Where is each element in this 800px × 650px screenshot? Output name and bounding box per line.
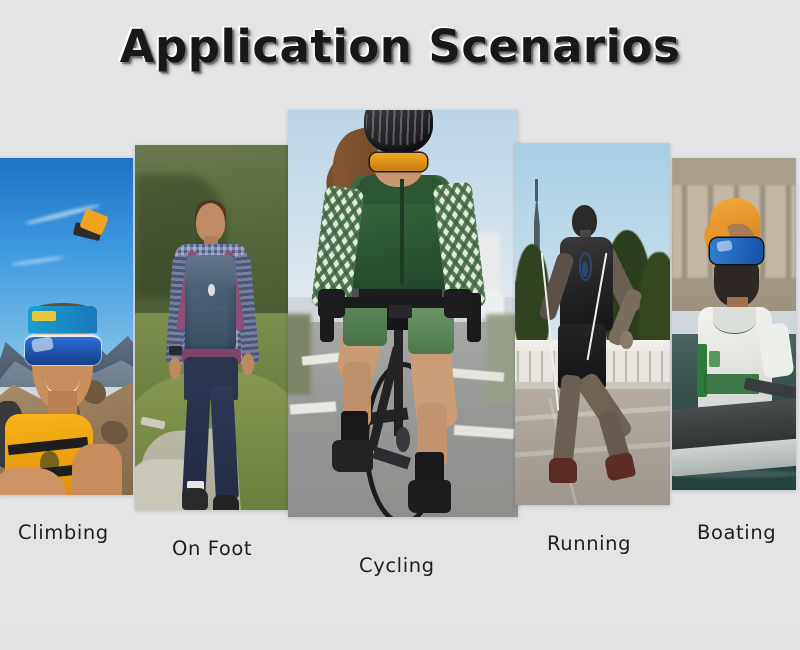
boating-scene-illustration <box>672 158 796 490</box>
right-hiking-shoe <box>213 495 239 510</box>
card-bottom-strip <box>0 631 800 650</box>
headband-stripe <box>32 311 56 321</box>
on-foot-scene-illustration <box>135 145 288 510</box>
scenario-label-boating: Boating <box>697 521 776 544</box>
page-title: Application Scenarios <box>0 20 800 73</box>
scenario-label-cycling: Cycling <box>359 554 435 577</box>
jersey-collar <box>713 307 756 334</box>
scenario-label-on-foot: On Foot <box>172 537 252 560</box>
jersey-logo <box>709 351 720 368</box>
roadside-verge-left <box>288 314 311 395</box>
climbing-scene-illustration <box>0 158 133 495</box>
wheel-hub <box>396 427 410 451</box>
left-glove <box>318 289 346 317</box>
cycling-scene-illustration <box>288 110 518 517</box>
tree <box>639 252 670 353</box>
scenario-panel-running[interactable] <box>515 143 670 505</box>
scenario-panel-climbing[interactable] <box>0 158 133 495</box>
shirt-logo-dot <box>582 262 587 276</box>
wristwatch <box>169 346 181 355</box>
arm <box>72 444 123 495</box>
stone-lintel <box>672 158 796 185</box>
left-running-shoe <box>549 458 577 483</box>
application-scenarios-banner: Application Scenarios <box>0 0 800 650</box>
left-hand <box>169 357 181 379</box>
scenario-panel-on-foot[interactable] <box>135 145 288 510</box>
scenario-label-running: Running <box>547 532 631 555</box>
orange-lens-sunglasses <box>370 153 428 171</box>
right-cycling-shoe <box>408 480 452 513</box>
scenario-panel-boating[interactable] <box>672 158 796 490</box>
rock-boulder <box>101 421 128 445</box>
scenario-label-climbing: Climbing <box>18 521 109 544</box>
stem <box>389 305 412 317</box>
jersey-zipper <box>400 179 405 285</box>
roadside-verge-right <box>486 314 518 404</box>
backpack-pocket <box>192 306 229 346</box>
running-scene-illustration <box>515 143 670 505</box>
right-arm-sleeve <box>758 322 795 379</box>
cycling-scene-clip <box>288 110 518 517</box>
left-short-leg-green <box>343 301 387 346</box>
left-hiking-shoe <box>182 488 208 510</box>
helmet-vents <box>366 110 430 145</box>
right-glove <box>444 289 472 317</box>
backpack-lid <box>185 255 235 288</box>
left-cycling-shoe <box>332 440 373 473</box>
lens-glare <box>716 240 732 252</box>
right-hand <box>620 331 632 349</box>
scenario-panel-cycling[interactable] <box>288 110 518 517</box>
